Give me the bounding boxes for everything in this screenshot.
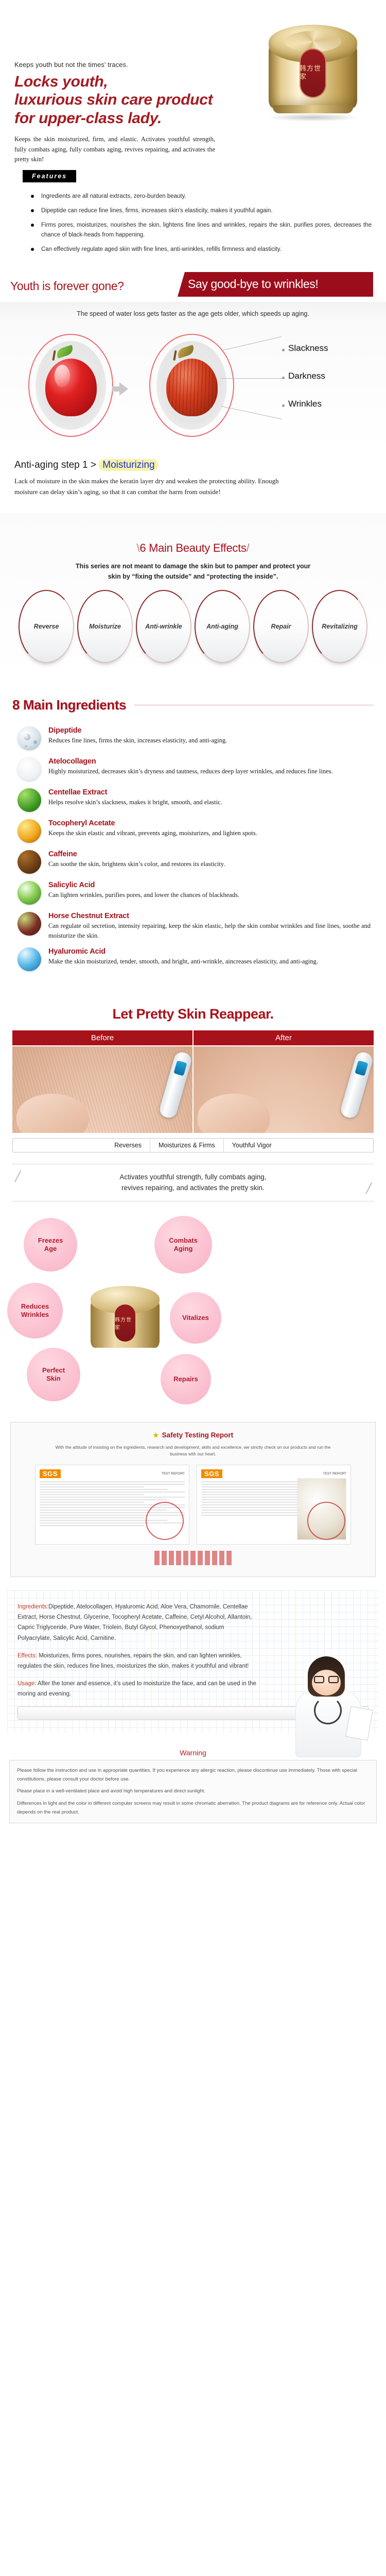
apple-comparison-section: Slackness Darkness Wrinkles: [0, 321, 386, 450]
ingredient-name: Centellae Extract: [48, 788, 222, 796]
apple-callouts: Slackness Darkness Wrinkles: [221, 342, 376, 426]
safety-report-documents: SGS TEST REPORT SGS TEST REPORT: [18, 1465, 368, 1545]
wrinkled-apple-icon: [166, 359, 218, 416]
ingredient-text: Tocopheryl Acetate Keeps the skin elasti…: [48, 819, 257, 843]
ingredient-row: Salicylic Acid Can lighten wrinkles, pur…: [17, 881, 371, 905]
fresh-apple-cell: [28, 334, 113, 437]
after-header: After: [194, 1030, 374, 1045]
beauty-effects-section: \6 Main Beauty Effects/ This series are …: [0, 513, 386, 676]
ingredients-heading: 8 Main Ingredients: [12, 697, 126, 713]
ingredient-desc: Highly moisturized, decreases skin’s dry…: [48, 767, 333, 776]
benefit-bubbles-section: Freezes Age Combats Aging Reduces Wrinkl…: [0, 1206, 386, 1406]
document-header: SGS TEST REPORT: [201, 1469, 346, 1478]
before-image: [12, 1046, 192, 1133]
beauty-effects-title: \6 Main Beauty Effects/: [0, 541, 386, 555]
effect-ellipse-revitalizing: Revitalizing: [312, 590, 367, 663]
spec-effects: Effects: Moisturizes, firms pores, nouri…: [17, 1651, 259, 1671]
ingredient-desc: Helps resolve skin’s slackness, makes it…: [48, 798, 222, 807]
report-seal-icon: [154, 1551, 232, 1565]
spec-ingredients-text: Dipeptide, Atelocollagen, Hyaluromic Aci…: [17, 1604, 252, 1641]
effect-label: Moisturize: [89, 623, 121, 630]
face-mask-icon: [17, 757, 41, 781]
effect-label: Revitalizing: [322, 623, 357, 630]
molecule-icon: [17, 726, 41, 750]
ingredient-text: Horse Chestnut Extract Can regulate oil …: [48, 912, 371, 940]
spec-usage-text: After the toner and essence, it’s used t…: [17, 1681, 256, 1697]
subtitle-line-2: skin by “fixing the outside” and “protec…: [28, 571, 358, 582]
ingredient-name: Atelocollagen: [48, 757, 333, 766]
callout-slackness: Slackness: [221, 342, 376, 370]
water-loss-band: The speed of water loss gets faster as t…: [0, 302, 386, 321]
ingredient-text: Caffeine Can soothe the skin, brightens …: [48, 850, 225, 874]
ingredient-name: Dipeptide: [48, 726, 227, 735]
callout-label: Wrinkles: [288, 399, 322, 409]
spec-ingredients: Ingredients:Dipeptide, Atelocollagen, Hy…: [17, 1602, 259, 1643]
callout-label: Darkness: [288, 371, 325, 381]
features-tag: Features: [23, 170, 76, 182]
product-page: Keeps youth but not the times’ traces. L…: [0, 0, 386, 1837]
star-icon: ★: [153, 1431, 159, 1439]
effect-ellipse-anti-aging: Anti-aging: [195, 590, 250, 663]
safety-report-section: ★ Safety Testing Report With the attitud…: [10, 1422, 376, 1577]
ingredients-heading-row: 8 Main Ingredients: [0, 697, 386, 713]
ingredient-row: Caffeine Can soothe the skin, brightens …: [17, 850, 371, 874]
before-after-section: Let Pretty Skin Reappear. Before After: [0, 1006, 386, 1153]
ingredient-name: Tocopheryl Acetate: [48, 819, 257, 827]
effect-ellipse-anti-wrinkle: Anti-wrinkle: [136, 590, 191, 663]
ingredients-section: 8 Main Ingredients Dipeptide Reduces fin…: [0, 676, 386, 988]
chestnut-icon: [17, 912, 41, 936]
spec-effects-label: Effects:: [17, 1653, 37, 1659]
callout-dot: [282, 349, 285, 351]
jar-base: [273, 105, 353, 113]
wrinkle-banner: Youth is forever gone? Say good-bye to w…: [0, 272, 386, 302]
effects-ellipse-row: Reverse Moisturize Anti-wrinkle Anti-agi…: [0, 590, 386, 663]
features-section: Features Ingredients are all natural ext…: [0, 170, 386, 255]
spec-usage: Usage: After the toner and essence, it’s…: [17, 1679, 259, 1699]
document-header: SGS TEST REPORT: [40, 1469, 185, 1478]
before-after-wrap: Before After Reverses Moisturizes & Firm…: [12, 1030, 374, 1153]
effect-label: Anti-wrinkle: [145, 623, 182, 630]
warning-line: Please follow the instruction and use in…: [17, 1767, 369, 1784]
water-drop-icon: [17, 947, 41, 971]
fresh-apple-icon: [45, 359, 97, 416]
ingredient-text: Atelocollagen Highly moisturized, decrea…: [48, 757, 333, 781]
ingredient-name: Hyaluromic Acid: [48, 947, 318, 956]
coffee-bean-icon: [17, 850, 41, 874]
callout-line: [221, 406, 282, 419]
ba-tag: Reverses: [106, 1139, 150, 1152]
report-seal-row: [18, 1551, 368, 1565]
activate-line-1: Activates youthful strength, fully comba…: [12, 1172, 374, 1183]
effect-label: Anti-aging: [206, 623, 238, 630]
ingredient-row: Centellae Extract Helps resolve skin’s s…: [17, 788, 371, 812]
ingredient-row: Horse Chestnut Extract Can regulate oil …: [17, 912, 371, 940]
ingredient-name: Caffeine: [48, 850, 225, 858]
effect-label: Repair: [271, 623, 291, 630]
features-list: Ingredients are all natural extracts, ze…: [30, 192, 372, 255]
ingredient-text: Hyaluromic Acid Make the skin moisturize…: [48, 947, 318, 971]
hero-subtext: Keeps the skin moisturized, firm, and el…: [14, 134, 215, 164]
wrinkle-banner-section: Youth is forever gone? Say good-bye to w…: [0, 272, 386, 321]
ingredients-list: Dipeptide Reduces fine lines, firms the …: [0, 726, 386, 971]
spec-effects-text: Moisturizes, firms pores, nourishes, rep…: [17, 1653, 249, 1669]
sgs-logo: SGS: [40, 1469, 61, 1478]
oil-capsule-icon: [17, 819, 41, 843]
beauty-effects-subtitle: This series are not meant to damage the …: [28, 561, 358, 582]
glasses-icon: [314, 1676, 339, 1683]
effect-ellipse-repair: Repair: [253, 590, 309, 663]
bubble-vitalizes: Vitalizes: [170, 1292, 221, 1344]
willow-leaf-icon: [17, 881, 41, 905]
ingredient-desc: Make the skin moisturized, tender, smoot…: [48, 957, 318, 966]
ingredient-row: Hyaluromic Acid Make the skin moisturize…: [17, 947, 371, 971]
before-after-title: Let Pretty Skin Reappear.: [0, 1006, 386, 1022]
water-loss-text: The speed of water loss gets faster as t…: [0, 310, 386, 317]
safety-report-subtitle: With the attitude of insisting on the in…: [49, 1444, 337, 1458]
callout-dot: [282, 404, 285, 407]
callout-dot: [282, 377, 285, 379]
doctor-illustration: [284, 1640, 372, 1758]
hero-section: Keeps youth but not the times’ traces. L…: [0, 0, 386, 170]
ingredient-row: Dipeptide Reduces fine lines, firms the …: [17, 726, 371, 750]
feature-item: Can effectively regulate aged skin with …: [30, 245, 372, 255]
warning-box: Please follow the instruction and use in…: [9, 1760, 377, 1823]
transition-arrow-icon: [119, 382, 128, 396]
ingredient-row: Tocopheryl Acetate Keeps the skin elasti…: [17, 819, 371, 843]
feature-item: Ingredients are all natural extracts, ze…: [30, 192, 372, 201]
before-after-images: [12, 1046, 374, 1133]
ingredient-desc: Can lighten wrinkles, purifies pores, an…: [48, 890, 239, 900]
jar-brand-label: 韩方世家: [115, 1304, 135, 1342]
report-document-left: SGS TEST REPORT: [35, 1465, 189, 1545]
jar-brand-label: 韩方世家: [300, 48, 326, 98]
activate-line-2: revives repairing, and activates the pre…: [12, 1182, 374, 1194]
ingredient-text: Salicylic Acid Can lighten wrinkles, pur…: [48, 881, 239, 905]
banner-ribbon: Say good-bye to wrinkles!: [178, 272, 373, 297]
sgs-logo: SGS: [201, 1469, 222, 1478]
effect-ellipse-moisturize: Moisturize: [77, 590, 133, 663]
bubble-perfect-skin: Perfect Skin: [27, 1348, 80, 1401]
bubble-repairs: Repairs: [161, 1354, 211, 1404]
subtitle-line-1: This series are not meant to damage the …: [28, 561, 358, 571]
ingredient-text: Dipeptide Reduces fine lines, firms the …: [48, 726, 227, 750]
callout-line: [221, 378, 283, 379]
before-after-tags: Reverses Moisturizes & Firms Youthful Vi…: [12, 1138, 374, 1153]
after-image: [194, 1046, 374, 1133]
feature-item: Firms pores, moisturizes, nourishes the …: [30, 221, 372, 240]
callout-label: Slackness: [288, 343, 328, 353]
product-spec-section: Ingredients:Dipeptide, Atelocollagen, Hy…: [7, 1590, 379, 1733]
beauty-effects-heading: 6 Main Beauty Effects: [139, 541, 246, 554]
ingredient-row: Atelocollagen Highly moisturized, decrea…: [17, 757, 371, 781]
effect-label: Reverse: [34, 623, 59, 630]
ingredient-name: Salicylic Acid: [48, 881, 239, 889]
warning-section: Warning Please follow the instruction an…: [9, 1749, 377, 1823]
before-header: Before: [12, 1030, 194, 1045]
stethoscope-icon: [314, 1697, 342, 1724]
anti-aging-step-section: Anti-aging step 1 > Moisturizing Lack of…: [0, 450, 386, 513]
document-title: TEST REPORT: [323, 1472, 346, 1476]
callout-wrinkles: Wrinkles: [221, 398, 376, 426]
callout-darkness: Darkness: [221, 370, 376, 398]
document-title: TEST REPORT: [162, 1472, 185, 1476]
step-title-prefix: Anti-aging step 1 >: [14, 460, 99, 470]
clipboard-icon: [345, 1706, 373, 1741]
apple-gloss: [55, 365, 70, 387]
ba-tag: Moisturizes & Firms: [150, 1139, 224, 1152]
safety-report-badge: ★ Safety Testing Report: [153, 1431, 233, 1439]
step-title-highlight: Moisturizing: [99, 459, 158, 471]
spec-usage-label: Usage:: [17, 1681, 36, 1687]
safety-report-header: ★ Safety Testing Report: [18, 1431, 368, 1440]
ingredient-name: Horse Chestnut Extract: [48, 912, 371, 920]
spec-ingredients-label: Ingredients:: [17, 1604, 48, 1610]
step-title: Anti-aging step 1 > Moisturizing: [14, 460, 372, 471]
warning-line: Differences in light and the color in di…: [17, 1800, 369, 1817]
banner-question: Youth is forever gone?: [10, 279, 124, 293]
product-jar-image-secondary: 韩方世家: [86, 1283, 164, 1360]
ingredient-desc: Reduces fine lines, firms the skin, incr…: [48, 736, 227, 745]
bubble-combats-aging: Combats Aging: [154, 1216, 212, 1274]
safety-report-title: Safety Testing Report: [162, 1431, 234, 1439]
jar-shadow: [267, 113, 359, 122]
step-body-text: Lack of moisture in the skin makes the k…: [14, 476, 303, 498]
before-after-headers: Before After: [12, 1030, 374, 1045]
feature-item: Dipeptide can reduce fine lines, firms, …: [30, 206, 372, 216]
green-leaf-icon: [17, 788, 41, 812]
activate-section: / / Activates youthful strength, fully c…: [12, 1164, 374, 1201]
slash-right: /: [247, 541, 250, 554]
effect-ellipse-reverse: Reverse: [19, 590, 74, 663]
ingredient-text: Centellae Extract Helps resolve skin’s s…: [48, 788, 222, 812]
warning-line: Please place in a well-ventilated place …: [17, 1787, 369, 1796]
ba-tag: Youthful Vigor: [224, 1139, 280, 1152]
ingredient-desc: Can soothe the skin, brightens skin’s co…: [48, 859, 225, 869]
bubble-reduces-wrinkles: Reduces Wrinkles: [7, 1283, 63, 1338]
report-document-right: SGS TEST REPORT: [197, 1465, 351, 1545]
product-jar-image: 韩方世家: [261, 20, 364, 138]
heading-rule: [134, 705, 374, 705]
ingredient-desc: Can regulate oil secretion, intensity re…: [48, 921, 371, 940]
ingredient-desc: Keeps the skin elastic and vibrant, prev…: [48, 828, 257, 838]
bubble-freezes-age: Freezes Age: [24, 1218, 77, 1272]
